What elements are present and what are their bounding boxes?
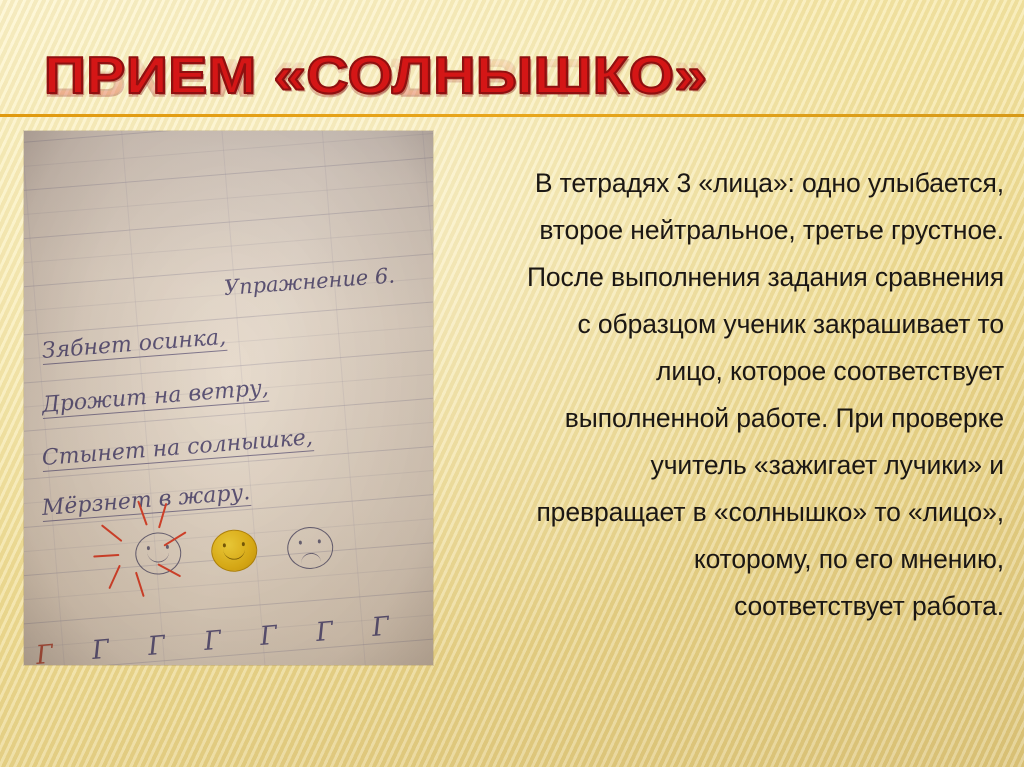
body-line: В тетрадях 3 «лица»: одно улыбается,: [414, 160, 1004, 207]
sad-mouth: [301, 552, 322, 564]
body-line: превращает в «солнышко» то «лицо»,: [414, 489, 1004, 536]
body-line: учитель «зажигает лучики» и: [414, 442, 1004, 489]
title-block: Прием «солнышко» Прием «солнышко»: [0, 48, 1024, 130]
eye-right: [242, 542, 245, 546]
body-line: которому, по его мнению,: [414, 536, 1004, 583]
body-line: После выполнения задания сравнения: [414, 254, 1004, 301]
smile-mouth: [223, 547, 246, 560]
letter-drill-glyph: Г: [259, 621, 279, 652]
letter-drill-glyph: Г: [91, 635, 111, 665]
eye-right: [318, 539, 321, 543]
smile-mouth: [147, 550, 170, 563]
body-line: второе нейтральное, третье грустное.: [414, 207, 1004, 254]
page-title-text: Прием «солнышко»: [44, 48, 708, 104]
letter-drill-glyph: Г: [147, 631, 167, 662]
eye-left: [223, 543, 226, 547]
slide-canvas: Прием «солнышко» Прием «солнышко» В тетр…: [0, 0, 1024, 767]
title-divider-rule: [0, 114, 1024, 117]
page-title: Прием «солнышко»: [44, 48, 708, 104]
eye-left: [299, 540, 302, 544]
body-line: с образцом ученик закрашивает то: [414, 301, 1004, 348]
letter-drill-glyph: Г: [371, 612, 391, 643]
body-line: соответствует работа.: [414, 583, 1004, 630]
letter-drill-glyph: Г: [203, 626, 223, 657]
notebook-photo: Упражнение 6. Зябнет осинка, Дрожит на в…: [24, 131, 433, 665]
body-paragraph: В тетрадях 3 «лица»: одно улыбается, вто…: [414, 160, 1004, 630]
body-line: выполненной работе. При проверке: [414, 395, 1004, 442]
body-line: лицо, которое соответствует: [414, 348, 1004, 395]
eye-left: [147, 546, 150, 550]
letter-drill-glyph: Г: [35, 640, 55, 665]
letter-drill-glyph: Г: [315, 617, 335, 648]
